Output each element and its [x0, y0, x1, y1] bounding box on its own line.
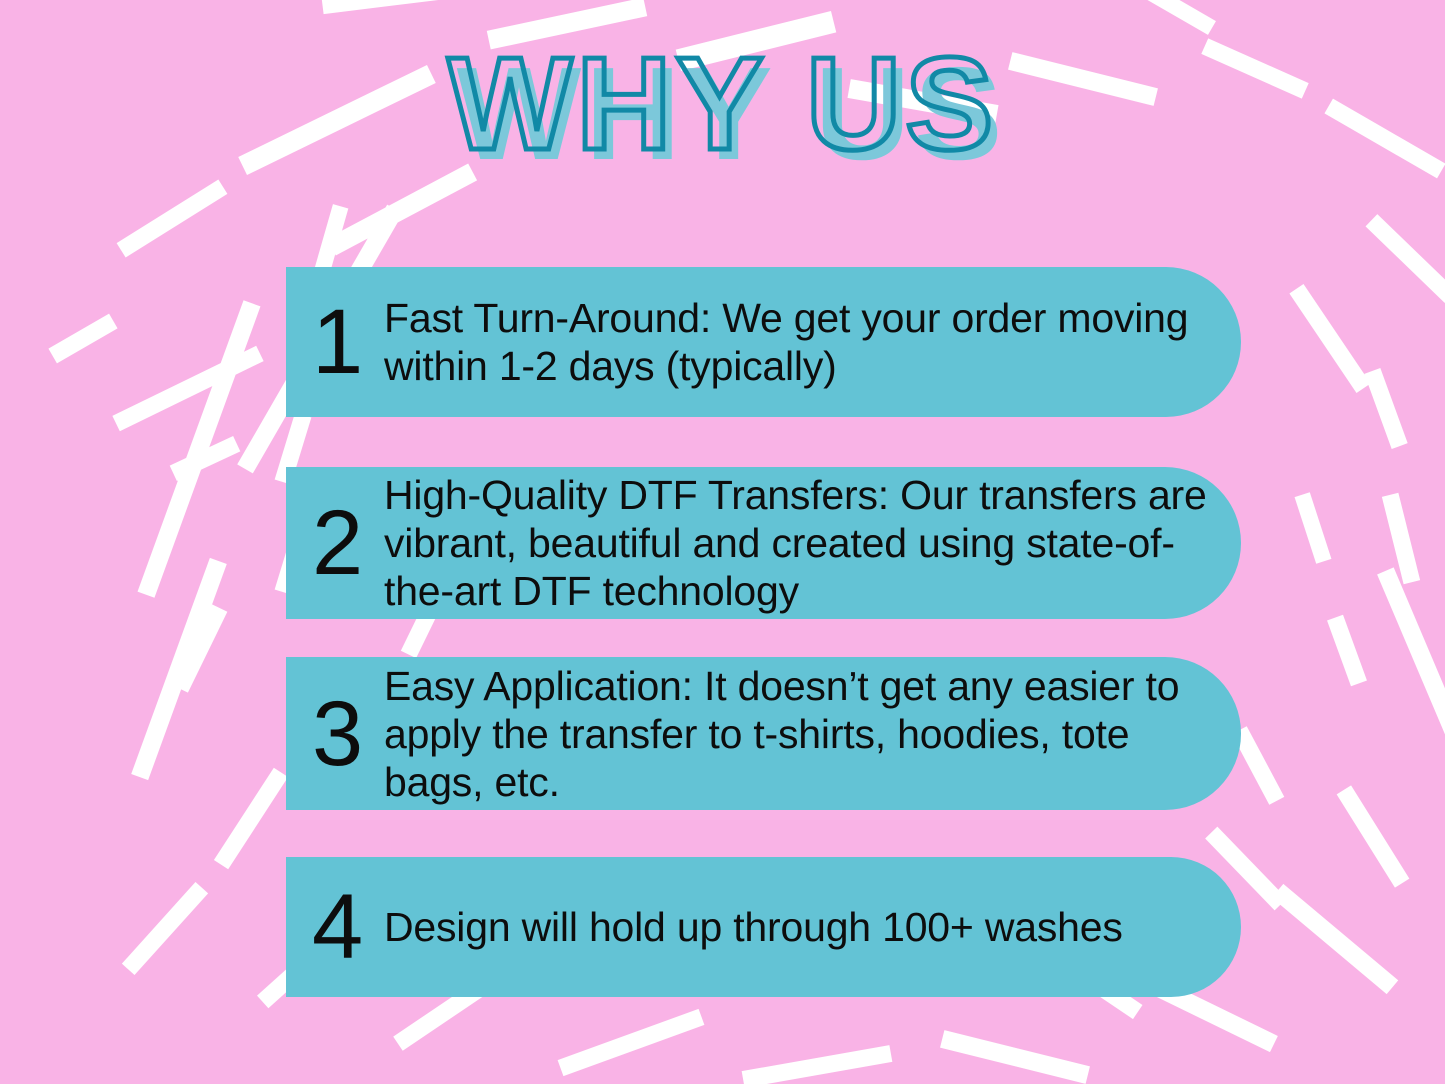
stripe-dash	[170, 436, 241, 481]
stripe-dash	[1327, 615, 1367, 687]
stripe-dash	[558, 1009, 705, 1076]
stripe-dash	[742, 1045, 893, 1084]
stripe-dash	[131, 558, 227, 780]
list-item: 3 Easy Application: It doesn’t get any e…	[286, 657, 1241, 810]
stripe-dash	[138, 300, 261, 597]
stripe-dash	[1377, 567, 1445, 850]
stripe-dash	[1366, 214, 1445, 303]
stripe-dash	[314, 204, 349, 276]
stripe-dash	[117, 179, 228, 257]
list-item-text: Design will hold up through 100+ washes	[384, 903, 1241, 951]
list-item: 1 Fast Turn-Around: We get your order mo…	[286, 267, 1241, 417]
stripe-dash	[173, 604, 228, 692]
stripe-dash	[1295, 492, 1332, 564]
stripe-dash	[1272, 884, 1398, 994]
list-item-number: 3	[312, 688, 384, 780]
list-item-text: Fast Turn-Around: We get your order movi…	[384, 294, 1241, 390]
stripe-dash	[1382, 493, 1420, 584]
stripe-dash	[48, 314, 117, 364]
stripe-dash	[1104, 0, 1216, 35]
stripe-dash	[940, 1030, 1090, 1084]
list-item: 4 Design will hold up through 100+ washe…	[286, 857, 1241, 997]
stripe-dash	[112, 346, 263, 431]
list-item-text: High-Quality DTF Transfers: Our transfer…	[384, 471, 1241, 615]
stripe-dash	[122, 882, 208, 975]
stripe-dash	[1337, 785, 1410, 887]
list-item-number: 1	[312, 296, 384, 388]
list-item-number: 4	[312, 881, 384, 973]
list-item: 2 High-Quality DTF Transfers: Our transf…	[286, 467, 1241, 619]
list-item-number: 2	[312, 497, 384, 589]
stripe-dash	[1364, 368, 1407, 449]
poster-canvas: WHY US WHY US 1 Fast Turn-Around: We get…	[0, 0, 1445, 1084]
page-title: WHY US WHY US	[0, 38, 1445, 188]
stripe-dash	[322, 0, 473, 14]
list-item-text: Easy Application: It doesn’t get any eas…	[384, 662, 1241, 806]
page-title-text: WHY US	[0, 38, 1445, 170]
stripe-dash	[214, 768, 288, 870]
stripe-dash	[1289, 284, 1370, 393]
